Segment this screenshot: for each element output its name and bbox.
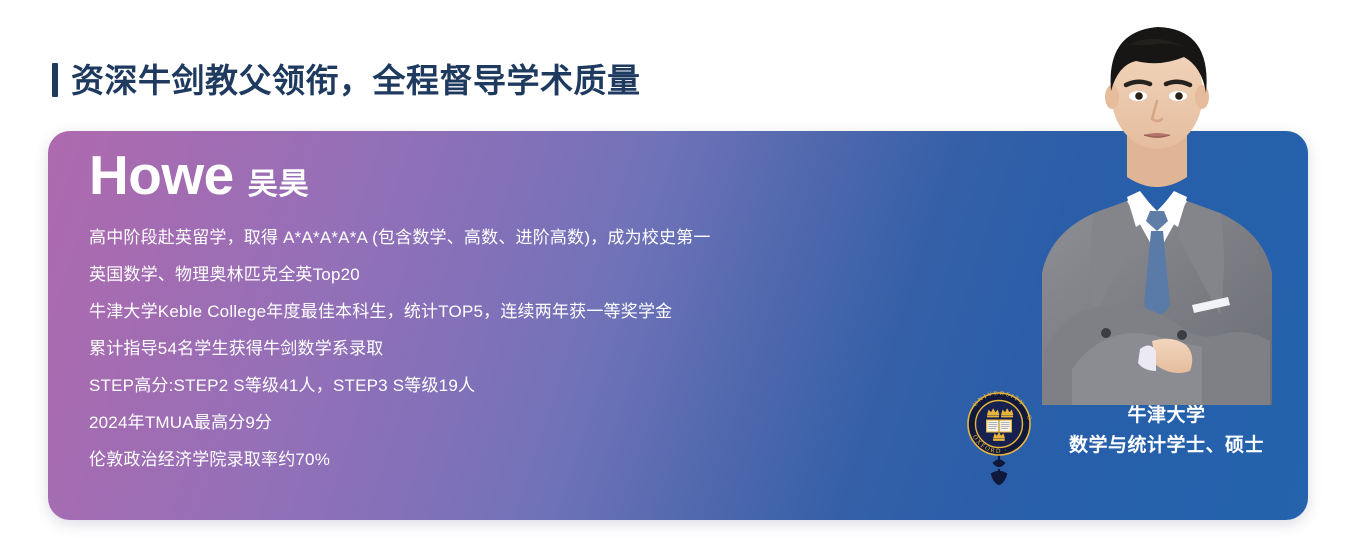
list-item: 伦敦政治经济学院录取率约70% — [89, 441, 869, 478]
list-item: 牛津大学Keble College年度最佳本科生，统计TOP5，连续两年获一等奖… — [89, 293, 869, 330]
teacher-profile-card: Howe 吴昊 高中阶段赴英留学，取得 A*A*A*A*A (包含数学、高数、进… — [48, 131, 1308, 520]
teacher-name: Howe 吴昊 — [89, 148, 310, 203]
section-heading: 资深牛剑教父领衔，全程督导学术质量 — [52, 58, 641, 102]
list-item: 2024年TMUA最高分9分 — [89, 404, 869, 441]
teacher-name-cn: 吴昊 — [248, 170, 310, 200]
degree-qualification: 数学与统计学士、硕士 — [1069, 431, 1264, 461]
degree-university: 牛津大学 — [1069, 401, 1264, 431]
degree-text-group: 牛津大学 数学与统计学士、硕士 — [1069, 401, 1264, 461]
list-item: 高中阶段赴英留学，取得 A*A*A*A*A (包含数学、高数、进阶高数)，成为校… — [89, 219, 869, 256]
list-item: STEP高分:STEP2 S等级41人，STEP3 S等级19人 — [89, 367, 869, 404]
page-title: 资深牛剑教父领衔，全程督导学术质量 — [71, 64, 641, 97]
credential-list: 高中阶段赴英留学，取得 A*A*A*A*A (包含数学、高数、进阶高数)，成为校… — [89, 219, 869, 478]
list-item: 英国数学、物理奥林匹克全英Top20 — [89, 256, 869, 293]
list-item: 累计指导54名学生获得牛剑数学系录取 — [89, 330, 869, 367]
oxford-crest-icon: UNIVERSITY · OF · OXFORD · — [953, 377, 1045, 485]
degree-block: UNIVERSITY · OF · OXFORD · — [953, 377, 1293, 485]
heading-accent-bar — [52, 63, 58, 97]
teacher-name-en: Howe — [89, 148, 234, 203]
